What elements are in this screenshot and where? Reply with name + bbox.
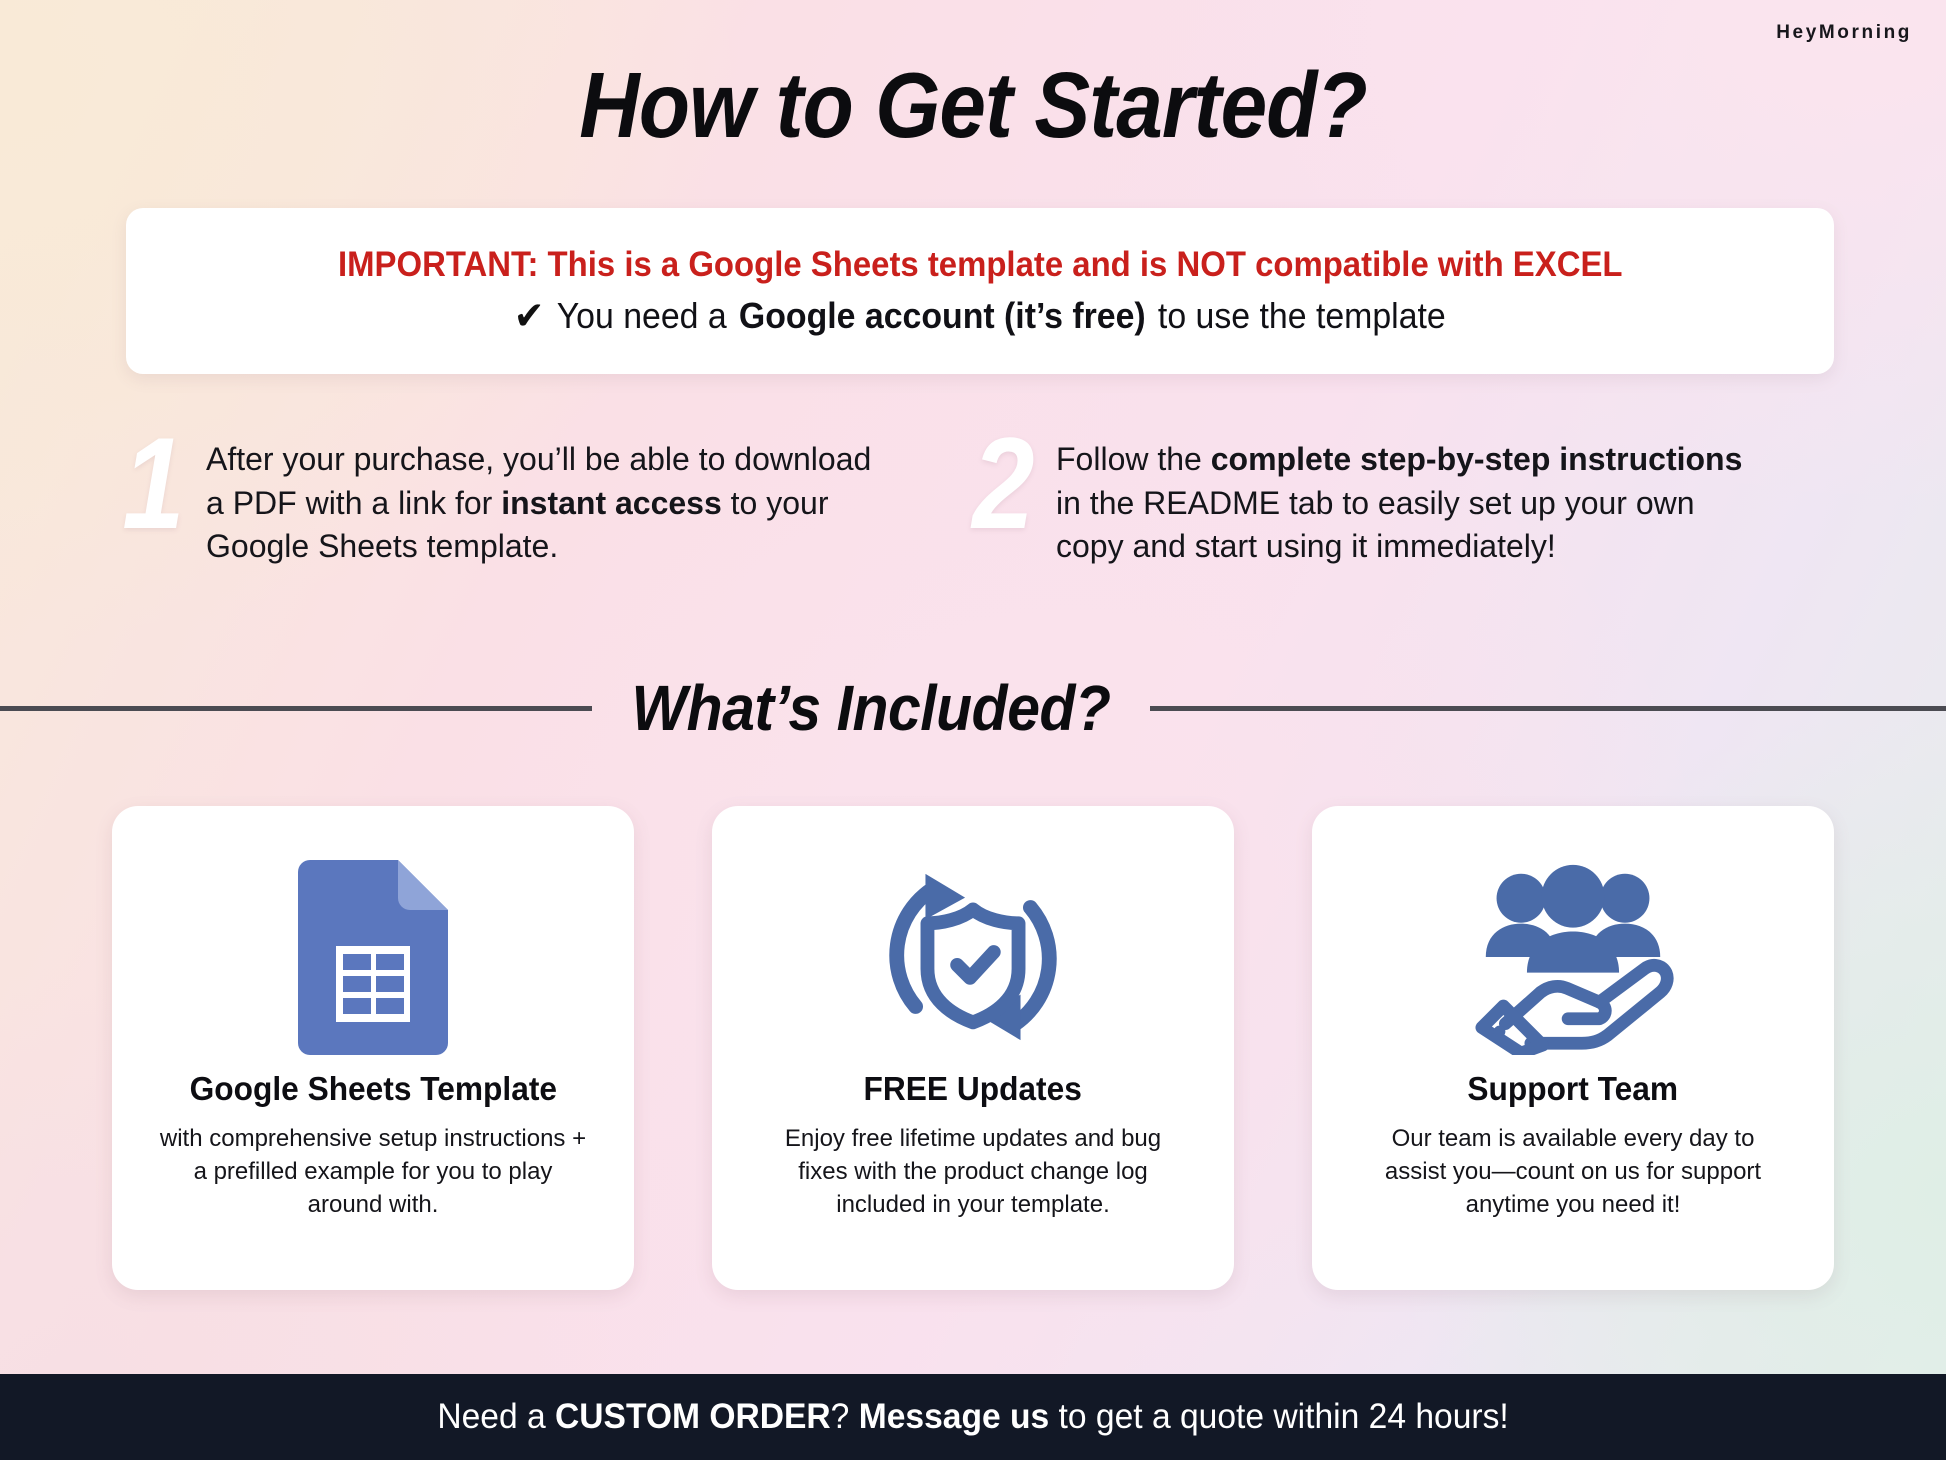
footer-bar: Need a CUSTOM ORDER? Message us to get a… — [0, 1374, 1946, 1460]
step-text-1-bold: instant access — [501, 485, 722, 521]
step-text-2: Follow the complete step-by-step instruc… — [1056, 424, 1766, 569]
divider-line-left — [0, 706, 592, 711]
step-number-1: 1 — [122, 424, 199, 569]
footer-message: Need a CUSTOM ORDER? Message us to get a… — [437, 1397, 1508, 1437]
brand-name: HeyMorning — [1776, 22, 1912, 44]
card-free-updates: FREE Updates Enjoy free lifetime updates… — [712, 806, 1234, 1290]
footer-custom-order: CUSTOM ORDER — [555, 1397, 831, 1436]
divider-line-right — [1150, 706, 1946, 711]
footer-part3: to get a quote within 24 hours! — [1049, 1397, 1509, 1436]
included-cards: Google Sheets Template with comprehensiv… — [112, 806, 1834, 1290]
footer-part2: ? — [831, 1397, 859, 1436]
card-text-3: Our team is available every day to assis… — [1358, 1122, 1788, 1221]
footer-part1: Need a — [437, 1397, 555, 1436]
google-sheets-icon — [138, 848, 608, 1066]
steps-section: 1 After your purchase, you’ll be able to… — [0, 424, 1946, 604]
step-text-2-part2: in the README tab to easily set up your … — [1056, 485, 1695, 565]
step-item-2: 2 Follow the complete step-by-step instr… — [966, 424, 1766, 569]
card-support-team: Support Team Our team is available every… — [1312, 806, 1834, 1290]
whats-included-header: What’s Included? — [0, 662, 1946, 754]
important-notice-box: IMPORTANT: This is a Google Sheets templ… — [126, 208, 1834, 374]
step-text-1: After your purchase, you’ll be able to d… — [206, 424, 876, 569]
step-item-1: 1 After your purchase, you’ll be able to… — [116, 424, 876, 569]
card-text-2: Enjoy free lifetime updates and bug fixe… — [758, 1122, 1188, 1221]
section-title: What’s Included? — [614, 671, 1127, 745]
card-text-1: with comprehensive setup instructions + … — [158, 1122, 588, 1221]
shield-refresh-icon — [738, 848, 1208, 1066]
notice-text-bold: Google account (it’s free) — [739, 295, 1146, 337]
card-google-sheets-template: Google Sheets Template with comprehensiv… — [112, 806, 634, 1290]
page-title: How to Get Started? — [97, 52, 1848, 159]
promo-page: HeyMorning How to Get Started? IMPORTANT… — [0, 0, 1946, 1460]
step-number-2: 2 — [972, 424, 1049, 569]
notice-text-prefix: You need a — [557, 295, 727, 337]
step-text-2-part1: Follow the — [1056, 441, 1211, 477]
people-hand-support-icon — [1338, 848, 1808, 1066]
notice-account-line: ✔ You need a Google account (it’s free) … — [514, 295, 1446, 337]
step-text-2-bold: complete step-by-step instructions — [1211, 441, 1743, 477]
card-title-2: FREE Updates — [864, 1070, 1082, 1108]
notice-important-line: IMPORTANT: This is a Google Sheets templ… — [338, 245, 1623, 285]
footer-message-us[interactable]: Message us — [859, 1397, 1049, 1436]
card-title-1: Google Sheets Template — [189, 1070, 556, 1108]
card-title-3: Support Team — [1468, 1070, 1679, 1108]
notice-text-suffix: to use the template — [1158, 295, 1446, 337]
checkmark-icon: ✔ — [514, 297, 545, 336]
